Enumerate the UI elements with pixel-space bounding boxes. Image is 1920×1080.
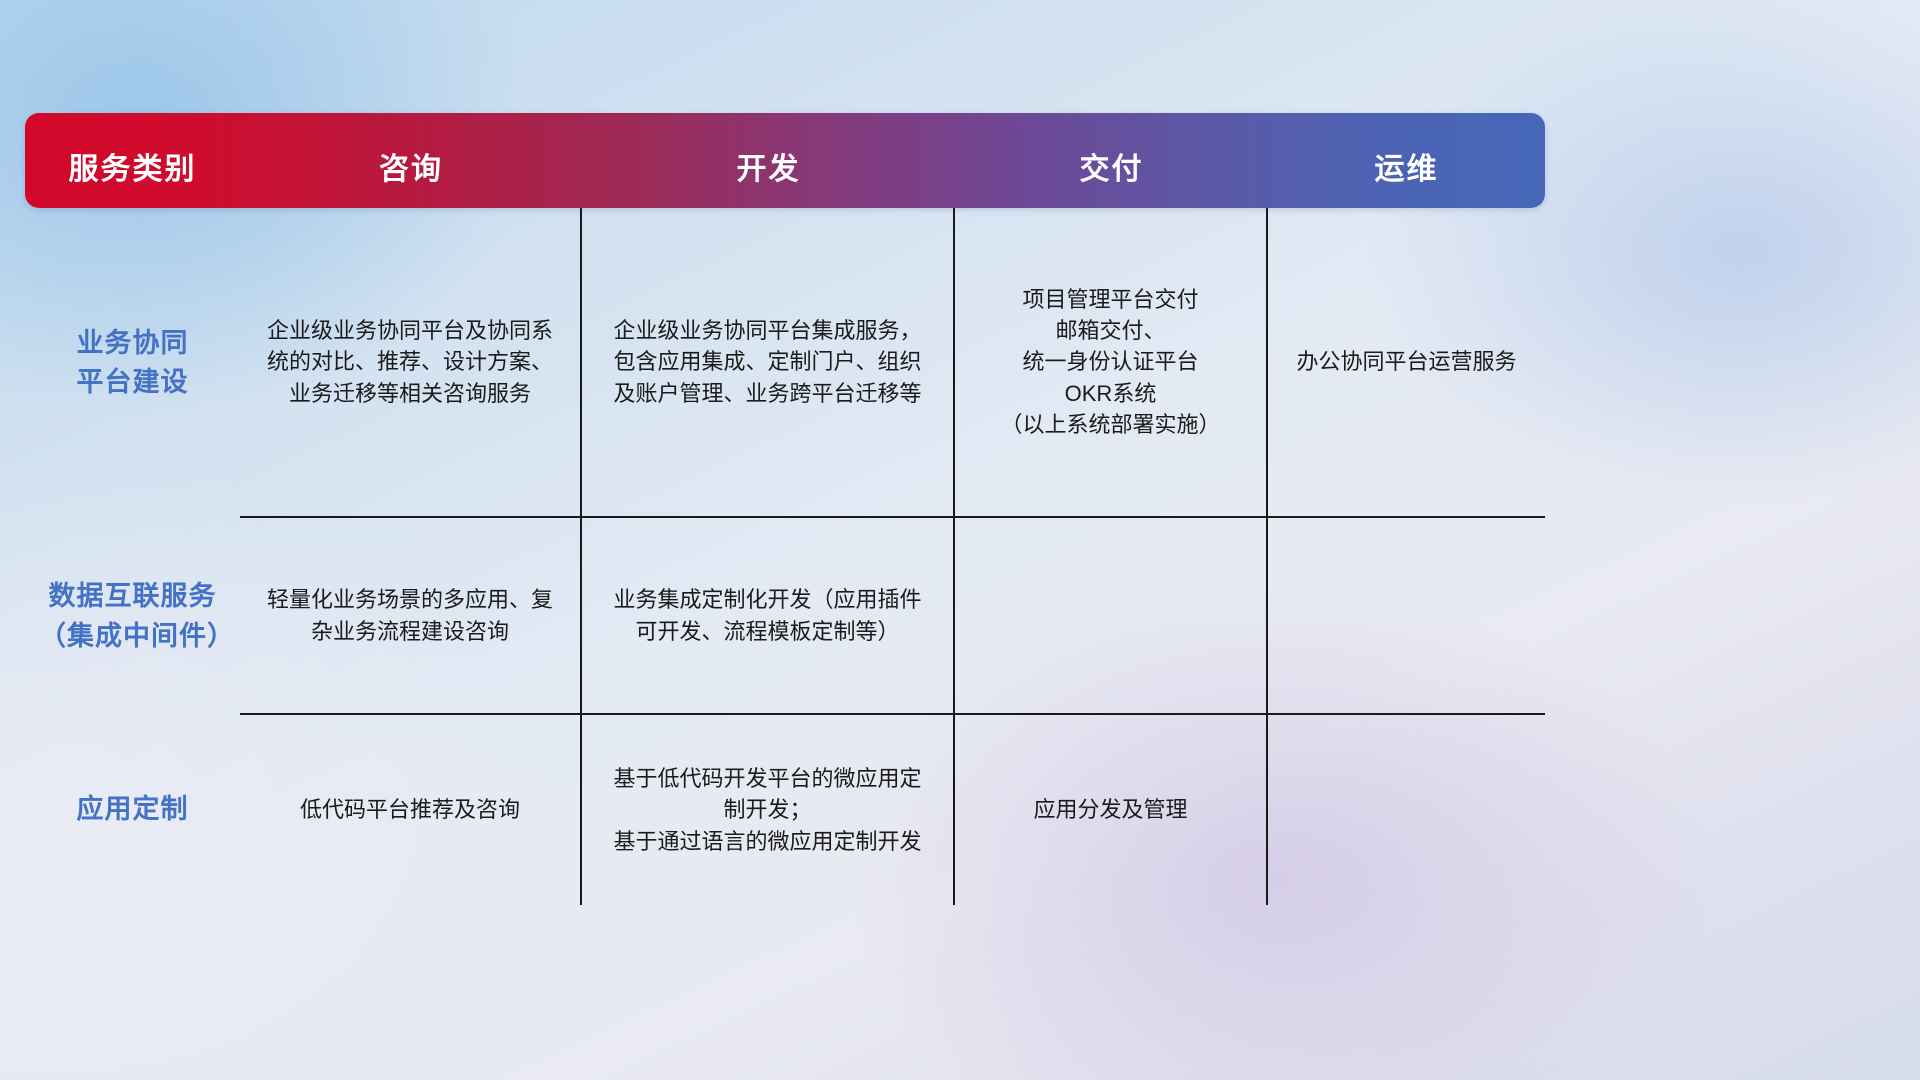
cell-consulting: 轻量化业务场景的多应用、复 杂业务流程建设咨询 bbox=[240, 518, 582, 715]
column-header-consulting: 咨询 bbox=[240, 113, 582, 208]
service-category-table: 服务类别 咨询 开发 交付 运维 业务协同 平台建设 企业级业务协同平台及协同系… bbox=[25, 113, 1545, 905]
table-row: 业务协同 平台建设 企业级业务协同平台及协同系 统的对比、推荐、设计方案、 业务… bbox=[25, 208, 1545, 518]
table-body: 业务协同 平台建设 企业级业务协同平台及协同系 统的对比、推荐、设计方案、 业务… bbox=[25, 208, 1545, 905]
cell-consulting: 企业级业务协同平台及协同系 统的对比、推荐、设计方案、 业务迁移等相关咨询服务 bbox=[240, 208, 582, 518]
cell-operations: 办公协同平台运营服务 bbox=[1268, 208, 1545, 518]
cell-category: 业务协同 平台建设 bbox=[25, 208, 240, 518]
cell-category: 数据互联服务 （集成中间件） bbox=[25, 518, 240, 715]
column-header-label: 运维 bbox=[1375, 144, 1439, 188]
column-header-label: 开发 bbox=[737, 144, 801, 188]
column-header-label: 咨询 bbox=[379, 144, 443, 188]
cell-delivery: 项目管理平台交付 邮箱交付、 统一身份认证平台 OKR系统 （以上系统部署实施） bbox=[955, 208, 1268, 518]
slide-canvas: 服务类别 咨询 开发 交付 运维 业务协同 平台建设 企业级业务协同平台及协同系… bbox=[0, 0, 1920, 1080]
cell-delivery bbox=[955, 518, 1268, 715]
cell-operations bbox=[1268, 518, 1545, 715]
table-header-row: 服务类别 咨询 开发 交付 运维 bbox=[25, 113, 1545, 208]
column-header-label: 交付 bbox=[1080, 144, 1144, 188]
cell-operations bbox=[1268, 715, 1545, 905]
column-header-operations: 运维 bbox=[1268, 113, 1545, 208]
cell-consulting: 低代码平台推荐及咨询 bbox=[240, 715, 582, 905]
cell-development: 企业级业务协同平台集成服务， 包含应用集成、定制门户、组织 及账户管理、业务跨平… bbox=[582, 208, 955, 518]
cell-development: 业务集成定制化开发（应用插件 可开发、流程模板定制等） bbox=[582, 518, 955, 715]
table-row: 应用定制 低代码平台推荐及咨询 基于低代码开发平台的微应用定 制开发； 基于通过… bbox=[25, 715, 1545, 905]
column-header-delivery: 交付 bbox=[955, 113, 1268, 208]
cell-delivery: 应用分发及管理 bbox=[955, 715, 1268, 905]
column-header-development: 开发 bbox=[582, 113, 955, 208]
cell-development: 基于低代码开发平台的微应用定 制开发； 基于通过语言的微应用定制开发 bbox=[582, 715, 955, 905]
table-row: 数据互联服务 （集成中间件） 轻量化业务场景的多应用、复 杂业务流程建设咨询 业… bbox=[25, 518, 1545, 715]
column-header-label: 服务类别 bbox=[69, 144, 197, 188]
column-header-service-category: 服务类别 bbox=[25, 113, 240, 208]
cell-category: 应用定制 bbox=[25, 715, 240, 905]
